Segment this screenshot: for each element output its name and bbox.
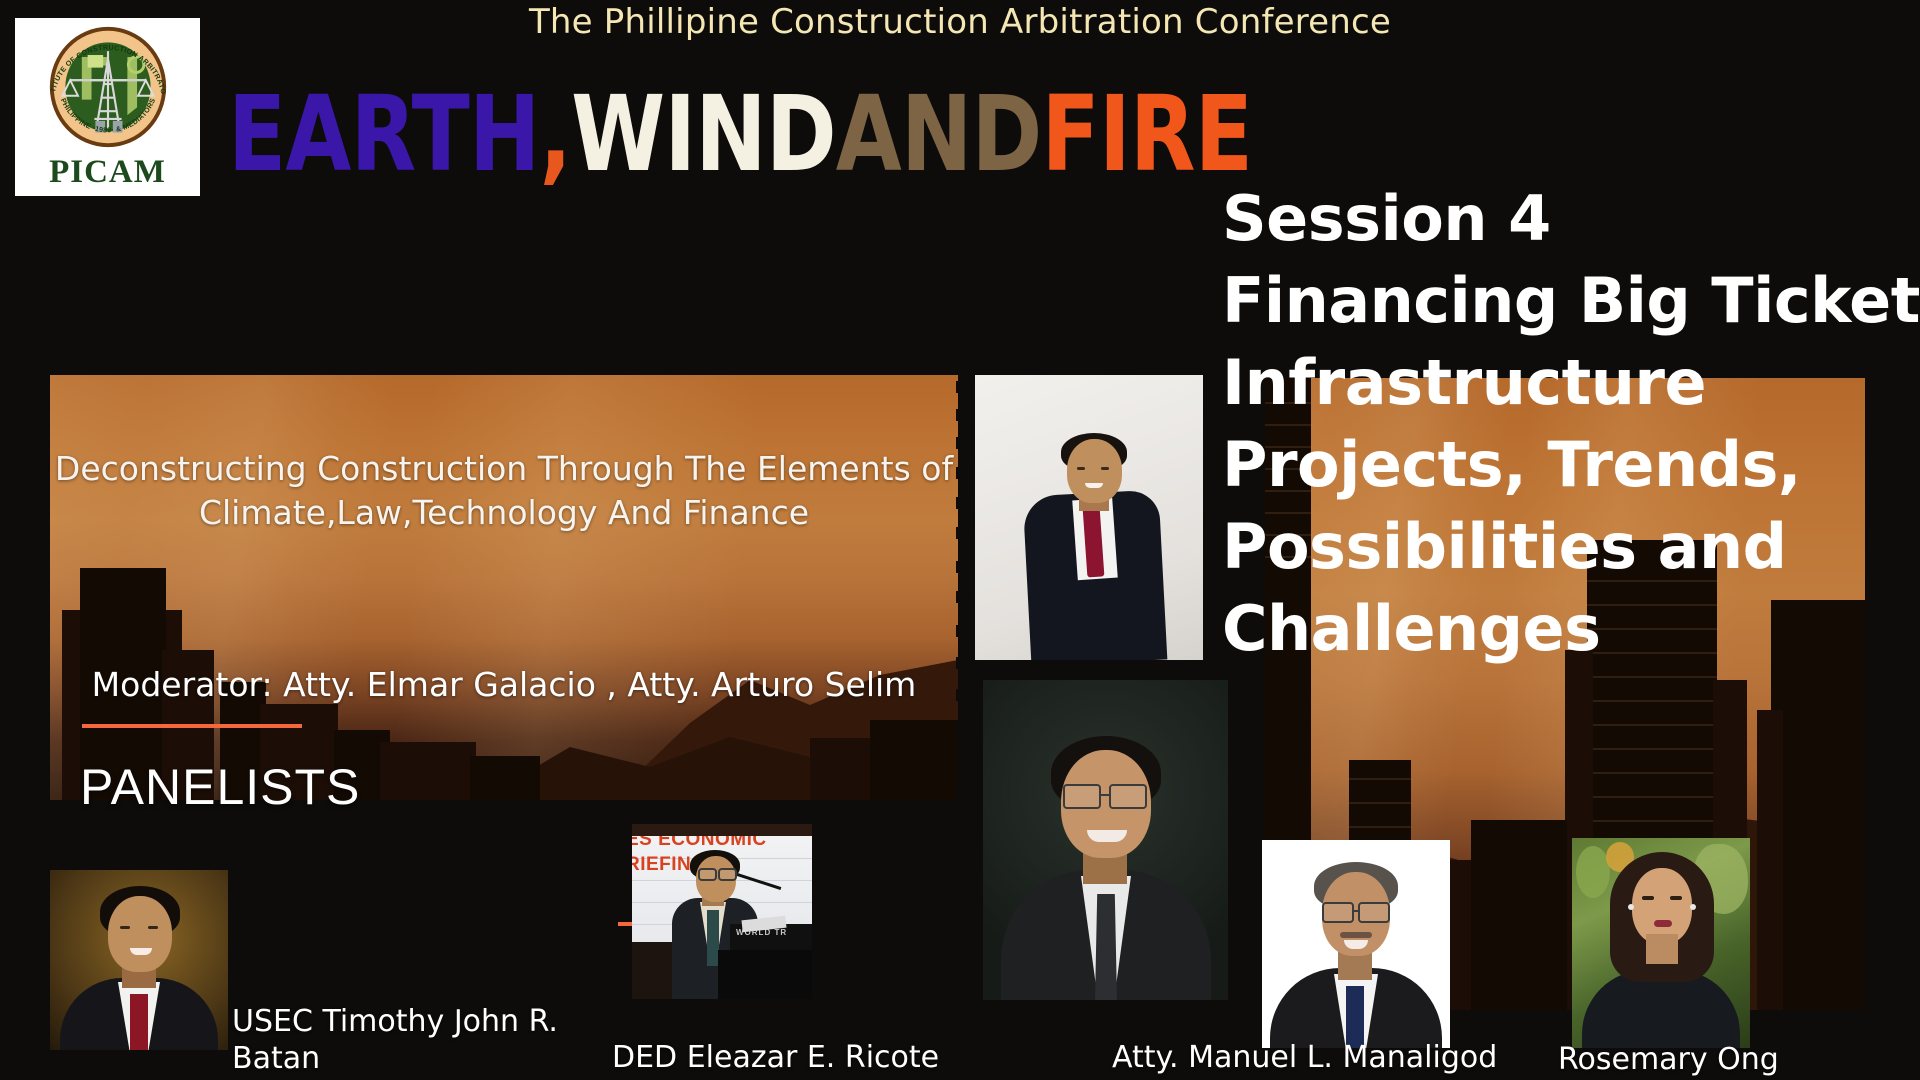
caption-manaligod: Atty. Manuel L. Manaligod (Cruz Marcelo … xyxy=(1112,1002,1512,1080)
panelist-photo-ricote: ES ECONOMIC RIEFING WORLD TR xyxy=(632,824,812,999)
edge-notch xyxy=(956,561,958,573)
picam-wordmark: PICAM xyxy=(15,154,200,191)
theme-comma: , xyxy=(540,84,572,184)
panelist-name: DED Eleazar E. Ricote xyxy=(612,1040,939,1075)
edge-notch xyxy=(956,409,958,421)
edge-notch xyxy=(956,591,958,603)
panelists-accent-rule xyxy=(82,724,302,728)
panelist-name: Rosemary Ong xyxy=(1558,1042,1779,1077)
theme-wordmark: EARTH,WIND AND FIRE xyxy=(228,84,1252,184)
session-description: Financing Big Ticket Infrastructure Proj… xyxy=(1222,260,1920,670)
theme-word-wind: WIND xyxy=(571,84,836,184)
session-number: Session 4 xyxy=(1222,178,1920,260)
edge-notch xyxy=(956,625,958,637)
theme-word-earth: EARTH xyxy=(228,84,540,184)
caption-batan: USEC Timothy John R. Batan (DOTR) xyxy=(232,966,632,1080)
building xyxy=(380,742,476,800)
left-skyline xyxy=(50,375,958,800)
building xyxy=(810,738,876,800)
building xyxy=(870,720,958,800)
building xyxy=(1757,710,1783,1010)
panelist-name: Atty. Manuel L. Manaligod xyxy=(1112,1040,1497,1075)
edge-notch xyxy=(956,381,958,393)
picam-seal-icon: INSTITUTE OF CONSTRUCTION ARBITRATORS PH… xyxy=(34,24,182,150)
left-cityscape-panel: Deconstructing Construction Through The … xyxy=(50,375,958,800)
panelist-photo-batan xyxy=(50,870,228,1050)
theme-word-and: AND xyxy=(836,84,1042,184)
building xyxy=(1471,820,1567,1010)
building xyxy=(470,756,540,800)
edge-notch xyxy=(956,785,958,797)
session-subtitle: Deconstructing Construction Through The … xyxy=(50,447,958,535)
theme-word-fire: FIRE xyxy=(1042,84,1253,184)
conference-title: The Phillipine Construction Arbitration … xyxy=(0,2,1920,42)
panelist-name: USEC Timothy John R. Batan xyxy=(232,1004,558,1076)
presentation-slide: Deconstructing Construction Through The … xyxy=(0,0,1920,1080)
edge-notch xyxy=(956,723,958,735)
moderator-line: Moderator: Atty. Elmar Galacio , Atty. A… xyxy=(50,665,958,704)
speaker-photo-top xyxy=(975,375,1203,660)
panelists-heading: PANELISTS xyxy=(80,758,360,816)
speaker-photo-center xyxy=(983,680,1228,1000)
caption-ong: Rosemary Ong (Asian Development Bank) xyxy=(1558,1004,1920,1080)
session-heading: Session 4 Financing Big Ticket Infrastru… xyxy=(1222,178,1920,670)
picam-logo: INSTITUTE OF CONSTRUCTION ARBITRATORS PH… xyxy=(15,18,200,196)
caption-ricote: DED Eleazar E. Ricote (Public Private Pa… xyxy=(612,1002,1032,1080)
edge-notch xyxy=(956,757,958,769)
